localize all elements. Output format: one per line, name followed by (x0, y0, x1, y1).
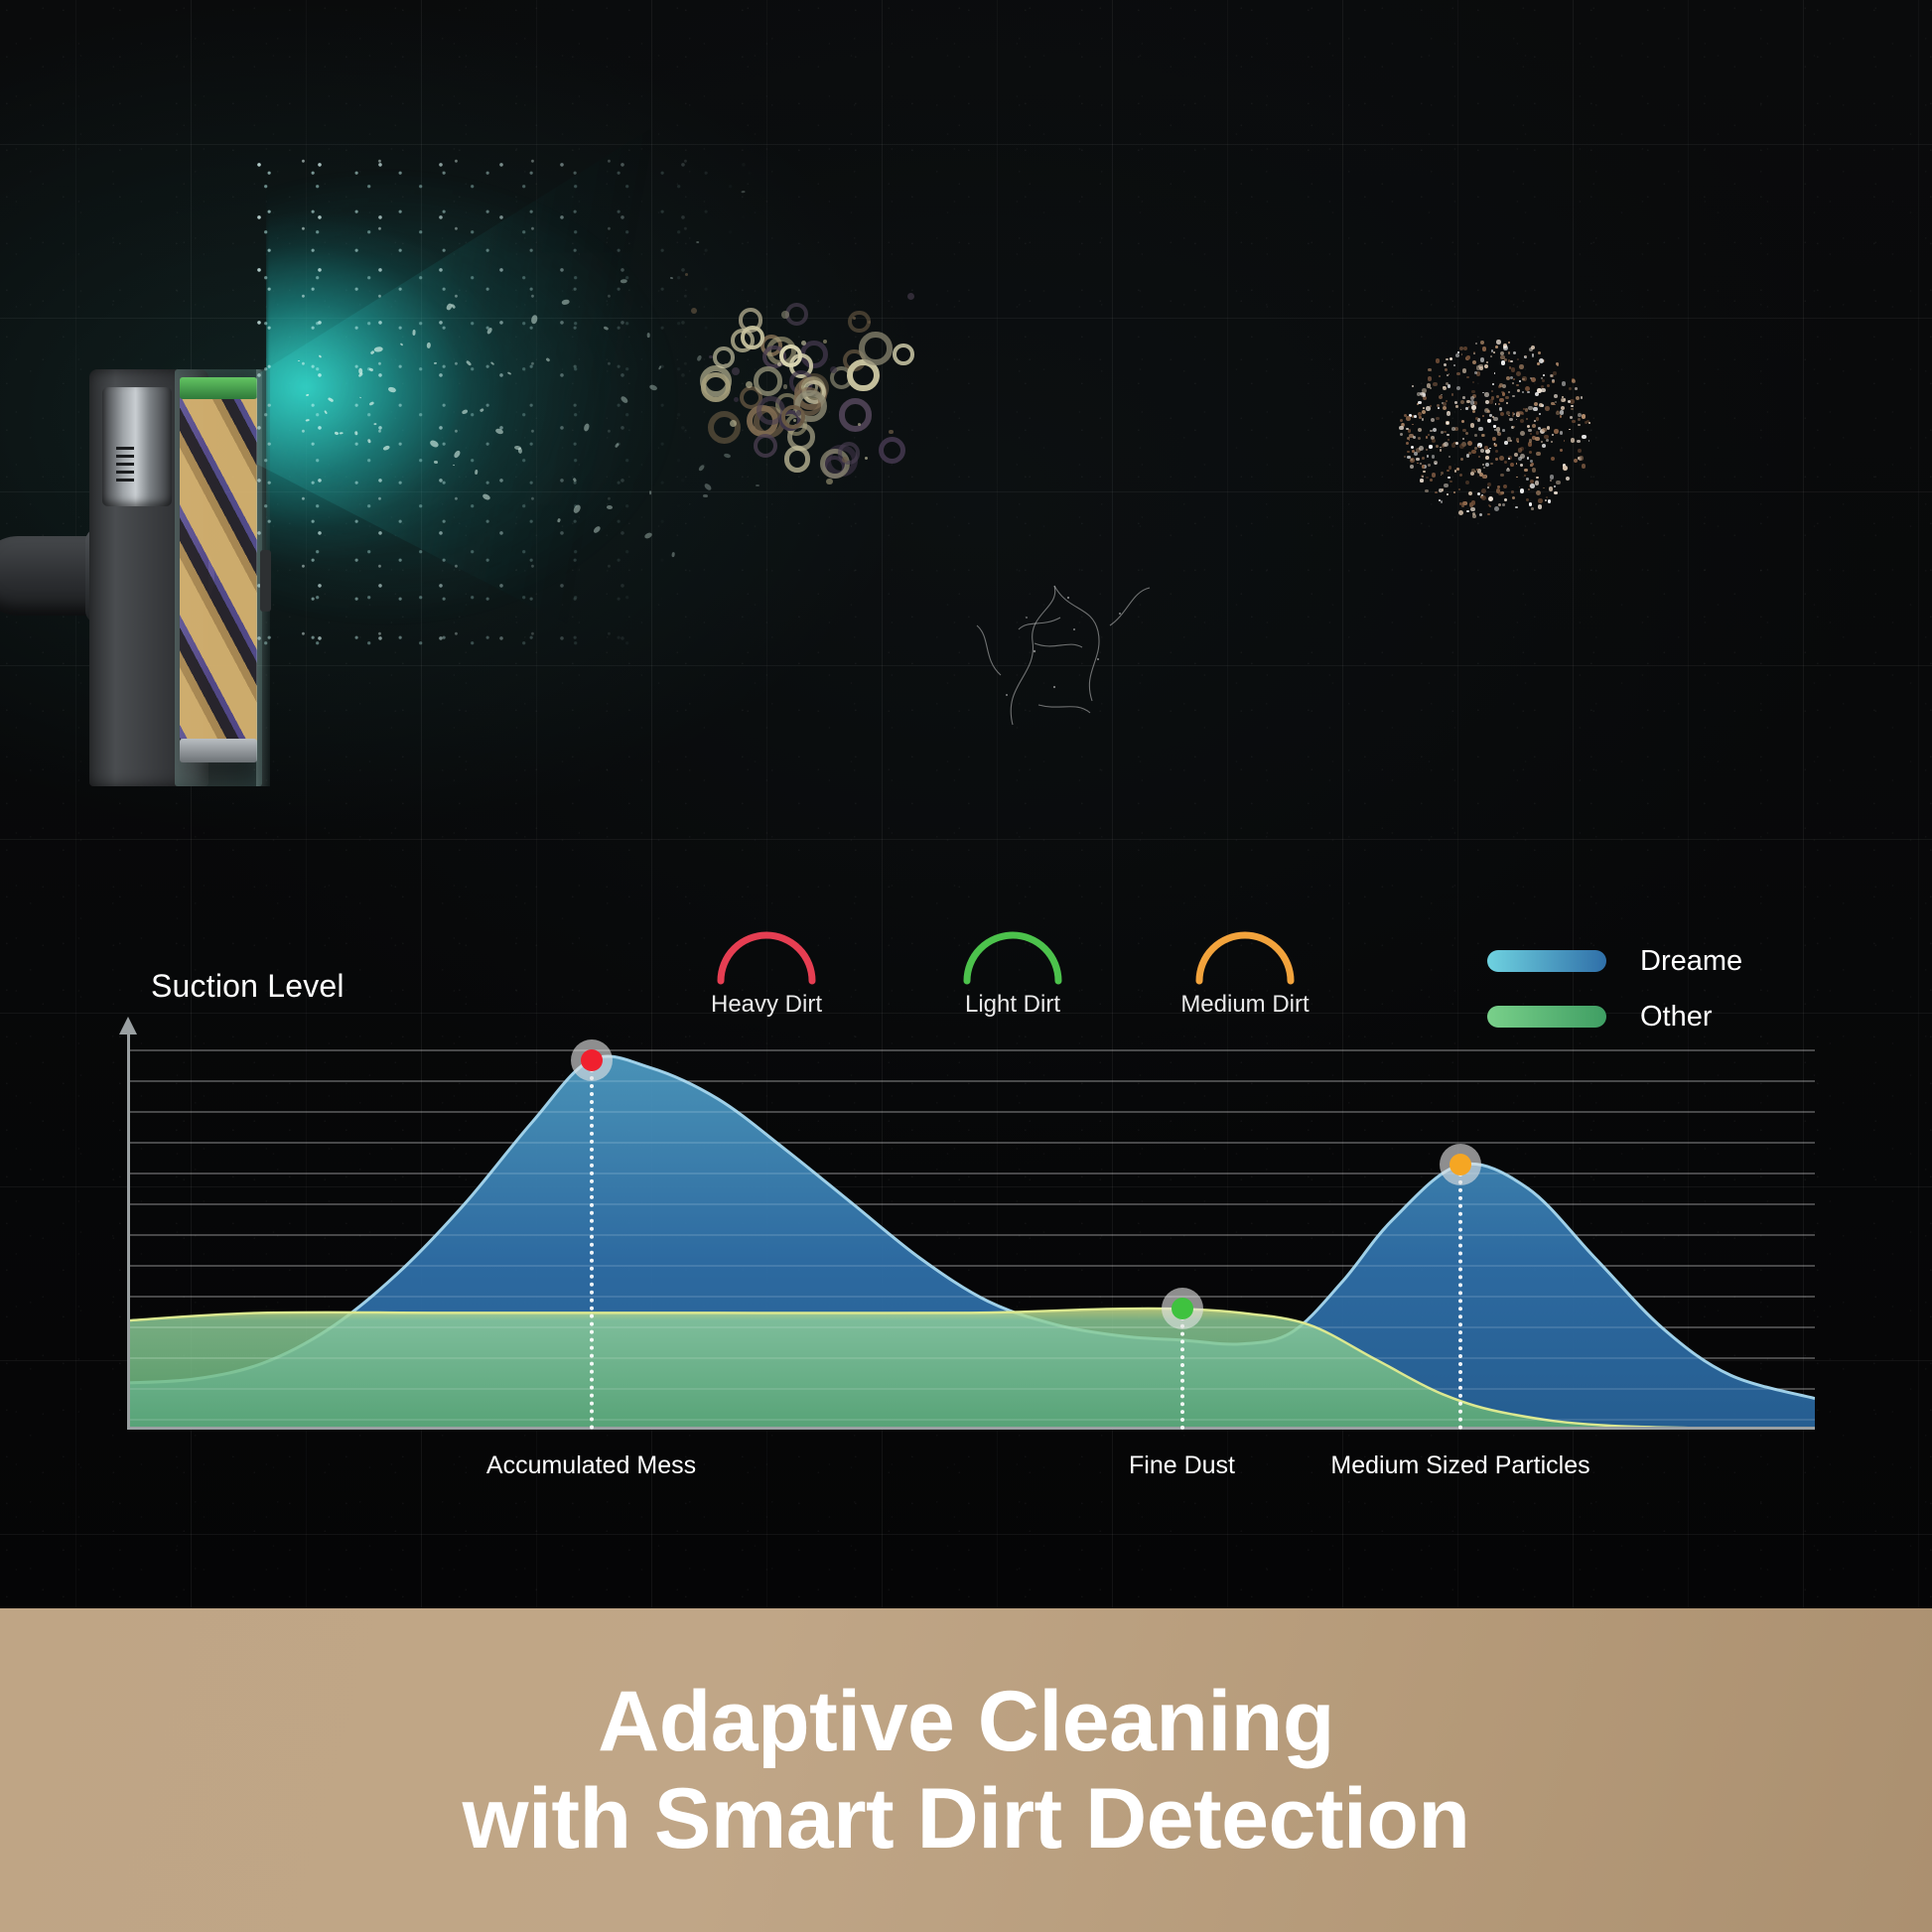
debris-grain (1406, 428, 1409, 431)
debris-grain (1462, 438, 1464, 440)
brush-roll-housing (175, 369, 262, 786)
debris-grain (1501, 391, 1503, 393)
debris-grain (1492, 437, 1496, 441)
debris-grain (1495, 403, 1497, 405)
chart-axis-title: Suction Level (151, 968, 345, 1005)
debris-crumb (734, 397, 739, 402)
debris-crumb (801, 341, 806, 345)
debris-ring (708, 411, 741, 444)
debris-grain (1563, 466, 1568, 471)
gauge-arc-medium-dirt (1185, 915, 1305, 987)
debris-grain (1560, 431, 1563, 434)
debris-grain (1529, 502, 1532, 505)
debris-grain (1515, 506, 1517, 508)
debris-grain (1552, 380, 1555, 383)
debris-grain (1430, 387, 1432, 389)
debris-grain (1578, 424, 1581, 427)
debris-grain (1546, 496, 1548, 498)
debris-grain (1447, 411, 1451, 416)
debris-grain (1516, 419, 1518, 421)
debris-grain (1519, 380, 1521, 382)
debris-grain (1551, 402, 1555, 406)
debris-grain (1457, 351, 1459, 353)
debris-grain (1482, 346, 1486, 350)
debris-grain (1502, 503, 1505, 506)
airborne-debris-flake (696, 240, 699, 242)
gauge-label-heavy-dirt: Heavy Dirt (707, 991, 826, 1019)
debris-grain (1454, 470, 1456, 472)
debris-grain (1497, 432, 1501, 436)
debris-grain (1504, 498, 1507, 501)
legend-swatch-dreame (1487, 950, 1606, 972)
debris-grain (1508, 342, 1510, 344)
debris-grain (1551, 441, 1553, 443)
debris-grain (1536, 452, 1541, 457)
debris-grain (1551, 457, 1555, 461)
debris-grain (1484, 446, 1488, 450)
debris-grain (1432, 473, 1437, 478)
debris-grain (1510, 463, 1514, 467)
debris-grain (1493, 417, 1497, 421)
debris-crumb (826, 479, 833, 485)
debris-grain (1462, 368, 1466, 372)
debris-grain (1494, 372, 1496, 374)
debris-grain (1444, 363, 1447, 366)
debris-grain (1476, 365, 1481, 370)
debris-grain (1485, 463, 1489, 467)
debris-grain (1550, 480, 1552, 482)
debris-grain (1411, 459, 1413, 461)
debris-grain (1443, 402, 1447, 406)
debris-crumb (709, 355, 712, 358)
debris-grain (1571, 438, 1575, 442)
debris-grain (1487, 486, 1489, 488)
debris-grain (1535, 481, 1539, 484)
vacuum-cleaner-head (0, 369, 318, 786)
debris-grain (1460, 400, 1464, 404)
debris-grain (1426, 436, 1429, 439)
debris-grain (1439, 395, 1443, 399)
x-axis-label-medium-sized-particles: Medium Sized Particles (1330, 1451, 1589, 1480)
debris-grain (1478, 446, 1480, 448)
debris-grain (1465, 481, 1470, 485)
debris-grain (1513, 378, 1515, 380)
debris-ring (701, 372, 731, 402)
debris-grain (1471, 405, 1475, 409)
debris-grain (1422, 388, 1427, 393)
debris-fine-dust (943, 556, 1191, 755)
airborne-debris-flake (517, 447, 521, 453)
brush-roll (180, 395, 257, 760)
debris-grain (1494, 506, 1499, 511)
debris-grain (1518, 448, 1522, 452)
debris-grain (1508, 458, 1510, 460)
debris-grain (1435, 491, 1438, 494)
debris-grain (1531, 463, 1534, 466)
debris-grain (1495, 345, 1498, 348)
debris-grain (1556, 481, 1560, 484)
debris-grain (1485, 456, 1489, 460)
debris-grain (1542, 444, 1546, 448)
debris-crumb (730, 420, 737, 427)
debris-grain (1409, 439, 1411, 441)
marker-heavy-dirt[interactable] (571, 1039, 613, 1081)
debris-grain (1438, 407, 1440, 409)
debris-grain (1503, 484, 1508, 489)
debris-grain (1560, 449, 1563, 452)
debris-grain (1441, 472, 1444, 475)
debris-ring (893, 344, 914, 365)
debris-grain (1578, 418, 1580, 420)
debris-grain (1492, 383, 1494, 385)
debris-grain (1451, 393, 1454, 396)
debris-grain (1461, 420, 1464, 423)
debris-grain (1435, 463, 1437, 465)
debris-crumb (793, 419, 796, 422)
debris-grain (1423, 407, 1425, 409)
debris-crumb (777, 362, 781, 366)
debris-grain (1516, 477, 1518, 479)
brush-roll-green-cap (180, 377, 257, 399)
debris-grain (1529, 347, 1533, 351)
debris-grain (1520, 431, 1525, 436)
debris-grain (1471, 390, 1474, 393)
debris-grain (1536, 477, 1538, 479)
debris-grain (1534, 402, 1538, 406)
debris-ring (784, 446, 811, 473)
debris-grain (1561, 398, 1566, 403)
debris-grain (1463, 346, 1468, 351)
legend-item-dreame: Dreame (1487, 933, 1805, 989)
debris-grain (1456, 468, 1459, 471)
debris-grain (1478, 427, 1482, 431)
debris-grain (1459, 444, 1464, 449)
debris-grain (1470, 396, 1474, 400)
debris-grain (1455, 353, 1459, 357)
debris-grain (1440, 447, 1442, 449)
debris-grain (1482, 475, 1486, 479)
debris-grain (1516, 463, 1518, 465)
debris-grain (1487, 483, 1492, 487)
debris-grain (1572, 420, 1575, 423)
debris-grain (1538, 504, 1542, 508)
debris-grain (1400, 433, 1403, 436)
debris-grain (1466, 454, 1469, 457)
debris-grain (1478, 456, 1480, 458)
debris-grain (1429, 445, 1432, 448)
debris-grain (1588, 440, 1590, 442)
debris-grain (1418, 412, 1422, 416)
debris-ring (839, 398, 872, 431)
debris-grain (1456, 386, 1461, 391)
debris-ring (838, 442, 860, 464)
debris-grain (1499, 398, 1503, 402)
debris-grain (1520, 419, 1524, 423)
debris-grain (1455, 405, 1458, 408)
debris-grain (1508, 415, 1510, 417)
debris-grain (1468, 491, 1473, 496)
debris-grain (1522, 376, 1526, 380)
debris-grain (1516, 384, 1518, 386)
debris-grain (1443, 406, 1447, 410)
debris-grain (1532, 424, 1536, 428)
debris-crumb (796, 410, 801, 415)
debris-grain (1444, 483, 1449, 488)
debris-grain (1539, 413, 1541, 415)
debris-grain (1440, 449, 1442, 451)
headline: Adaptive Cleaning with Smart Dirt Detect… (463, 1673, 1470, 1867)
debris-grain (1537, 362, 1540, 365)
debris-grain (1419, 446, 1424, 451)
debris-grain (1582, 414, 1587, 419)
debris-grain (1546, 439, 1549, 442)
debris-grain (1498, 491, 1503, 496)
debris-crumb (783, 384, 787, 388)
debris-grain (1462, 501, 1466, 505)
debris-grain (1459, 346, 1463, 350)
debris-grain (1498, 503, 1502, 507)
debris-grain (1554, 394, 1558, 398)
debris-grain (1423, 471, 1425, 473)
debris-grain (1511, 490, 1514, 493)
debris-grain (1542, 428, 1547, 433)
debris-grain (1496, 395, 1499, 398)
debris-grain (1449, 456, 1450, 458)
debris-grain (1536, 417, 1540, 421)
legend-label-other: Other (1640, 1001, 1713, 1034)
debris-medium-sized-particles (1370, 318, 1608, 536)
debris-grain (1539, 358, 1544, 363)
debris-grain (1407, 451, 1409, 453)
debris-grain (1500, 412, 1504, 416)
debris-grain (1474, 447, 1477, 450)
gauge-heavy-dirt (707, 915, 826, 987)
chart-y-axis (127, 1033, 130, 1430)
debris-grain (1588, 422, 1590, 424)
debris-grain (1543, 374, 1545, 376)
debris-grain (1554, 429, 1558, 433)
debris-ring (879, 437, 906, 465)
debris-grain (1541, 441, 1544, 444)
debris-grain (1470, 400, 1474, 404)
debris-grain (1447, 422, 1449, 424)
brush-roll-bottom-cap (180, 739, 257, 762)
debris-grain (1524, 475, 1526, 477)
debris-grain (1471, 469, 1475, 473)
debris-ring (731, 329, 755, 352)
debris-grain (1510, 440, 1512, 442)
debris-grain (1513, 351, 1516, 354)
debris-grain (1528, 442, 1532, 446)
debris-grain (1541, 385, 1544, 388)
debris-grain (1454, 401, 1457, 404)
debris-grain (1428, 368, 1431, 371)
debris-grain (1456, 372, 1460, 376)
debris-grain (1526, 478, 1529, 481)
fine-dust-svg (943, 556, 1191, 755)
debris-grain (1527, 425, 1530, 428)
debris-grain (1428, 434, 1430, 436)
debris-grain (1480, 357, 1484, 361)
debris-grain (1448, 477, 1450, 480)
marker-light-dirt[interactable] (1162, 1288, 1203, 1329)
debris-grain (1572, 379, 1576, 383)
airborne-debris-flake (703, 494, 708, 497)
debris-grain (1529, 439, 1532, 442)
debris-grain (1581, 396, 1583, 398)
debris-grain (1569, 387, 1573, 391)
debris-grain (1482, 464, 1484, 466)
debris-grain (1493, 351, 1495, 353)
legend-swatch-other (1487, 1006, 1606, 1028)
debris-grain (1445, 368, 1448, 371)
debris-grain (1481, 488, 1486, 493)
debris-grain (1466, 376, 1468, 378)
debris-grain (1535, 437, 1539, 441)
airborne-debris-flake (340, 431, 344, 434)
debris-grain (1453, 364, 1455, 366)
debris-grain (1527, 457, 1529, 459)
debris-grain (1531, 507, 1534, 510)
airborne-debris-flake (649, 490, 652, 494)
debris-grain (1530, 433, 1533, 436)
debris-grain (1545, 406, 1550, 411)
debris-grain (1416, 458, 1419, 461)
debris-grain (1547, 384, 1550, 387)
debris-grain (1433, 428, 1437, 432)
debris-ring (754, 366, 782, 395)
debris-grain (1553, 371, 1556, 374)
debris-grain (1441, 500, 1443, 502)
debris-grain (1470, 423, 1474, 427)
debris-grain (1471, 450, 1476, 455)
debris-grain (1486, 361, 1488, 363)
chart-svg (127, 1033, 1815, 1430)
debris-grain (1475, 343, 1477, 345)
debris-grain (1505, 396, 1509, 400)
debris-grain (1453, 491, 1455, 493)
x-axis-label-accumulated-mess: Accumulated Mess (486, 1451, 696, 1480)
debris-grain (1496, 340, 1501, 345)
debris-grain (1500, 474, 1503, 477)
debris-grain (1458, 510, 1463, 515)
debris-grain (1506, 402, 1508, 404)
airborne-debris-flake (647, 334, 650, 339)
debris-grain (1433, 382, 1438, 387)
debris-grain (1414, 415, 1417, 418)
marker-dot-icon (1449, 1154, 1471, 1175)
debris-grain (1578, 413, 1582, 417)
debris-grain (1414, 452, 1418, 456)
debris-grain (1503, 345, 1507, 349)
airborne-debris-flake (434, 461, 438, 464)
debris-grain (1528, 429, 1531, 432)
debris-grain (1532, 468, 1537, 473)
debris-grain (1462, 396, 1465, 399)
debris-grain (1454, 427, 1458, 431)
debris-grain (1524, 469, 1528, 473)
debris-grain (1467, 441, 1472, 446)
debris-crumb (732, 367, 740, 375)
debris-grain (1443, 443, 1447, 447)
debris-grain (1466, 510, 1469, 513)
debris-grain (1560, 415, 1562, 417)
debris-grain (1422, 418, 1424, 420)
legend-label-dreame: Dreame (1640, 945, 1742, 978)
debris-grain (1447, 374, 1449, 376)
debris-grain (1461, 353, 1463, 355)
debris-grain (1536, 431, 1540, 435)
gauge-label-medium-dirt: Medium Dirt (1156, 991, 1334, 1019)
debris-grain (1530, 483, 1534, 487)
debris-grain (1554, 491, 1557, 494)
dropline-accumulated-mess (590, 1060, 594, 1430)
debris-grain (1542, 379, 1546, 383)
debris-grain (1413, 436, 1416, 439)
headline-line-2: with Smart Dirt Detection (463, 1771, 1470, 1866)
debris-grain (1501, 457, 1504, 460)
debris-grain (1459, 474, 1462, 477)
debris-grain (1420, 463, 1422, 465)
debris-grain (1487, 513, 1490, 516)
debris-crumb (889, 430, 893, 434)
debris-grain (1520, 454, 1525, 459)
debris-crumb (853, 317, 856, 320)
debris-grain (1504, 461, 1507, 464)
debris-grain (1511, 367, 1515, 371)
debris-grain (1484, 364, 1488, 368)
debris-grain (1512, 382, 1515, 385)
debris-grain (1488, 496, 1493, 501)
debris-grain (1484, 392, 1488, 396)
gauge-light-dirt (953, 915, 1072, 987)
debris-grain (1576, 396, 1580, 400)
debris-grain (1443, 386, 1447, 390)
debris-grain (1428, 376, 1433, 381)
debris-grain (1479, 513, 1482, 516)
debris-grain (1432, 439, 1436, 443)
debris-grain (1436, 445, 1439, 448)
vacuum-side-clip (260, 550, 271, 612)
chart-x-axis (127, 1427, 1815, 1430)
debris-grain (1528, 406, 1533, 411)
debris-grain (1418, 428, 1422, 432)
debris-grain (1552, 434, 1554, 436)
chart-legend: Dreame Other (1487, 933, 1805, 1044)
debris-crumb (781, 311, 789, 319)
debris-grain (1525, 355, 1527, 357)
debris-grain (1426, 406, 1431, 411)
debris-grain (1499, 407, 1502, 410)
debris-grain (1465, 407, 1467, 409)
vacuum-motor-cylinder (102, 387, 172, 506)
debris-grain (1442, 488, 1445, 491)
debris-grain (1569, 429, 1571, 431)
debris-grain (1439, 375, 1441, 377)
debris-grain (1579, 456, 1583, 460)
debris-grain (1548, 499, 1551, 502)
debris-grain (1422, 457, 1425, 460)
debris-grain (1517, 441, 1519, 443)
debris-grain (1495, 458, 1498, 461)
debris-grain (1502, 429, 1505, 432)
gauge-label-light-dirt: Light Dirt (943, 991, 1082, 1019)
debris-grain (1526, 418, 1528, 420)
debris-grain (1570, 416, 1573, 419)
vacuum-vent-icon (116, 447, 134, 486)
debris-grain (1465, 432, 1468, 435)
debris-grain (1512, 412, 1514, 414)
